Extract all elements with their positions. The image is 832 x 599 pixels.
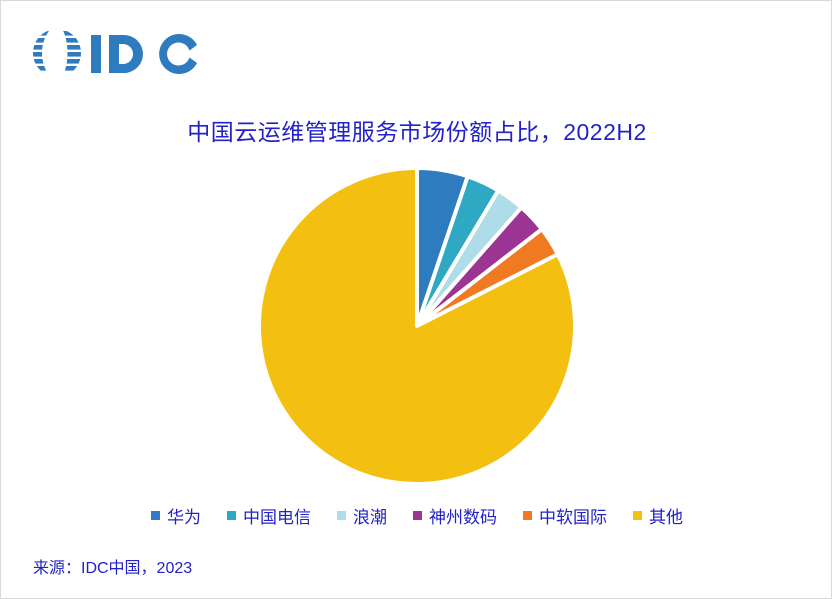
legend-item[interactable]: 其他 (633, 503, 683, 528)
pie-slice-group: 华为 5.2%中国电信 3.4%浪潮 2.9%神州数码 3%中软国际 3%其他 … (259, 168, 575, 484)
legend-item-label: 其他 (649, 503, 683, 528)
source-note: 来源：IDC中国，2023 (33, 554, 192, 578)
chart-title: 中国云运维管理服务市场份额占比，2022H2 (1, 113, 832, 147)
idc-logo-svg (31, 27, 201, 79)
legend-item-label: 中软国际 (539, 503, 607, 528)
chart-slide: 中国云运维管理服务市场份额占比，2022H2 华为 5.2%中国电信 3.4%浪… (0, 0, 832, 599)
legend-swatch-icon (413, 511, 422, 520)
legend-item[interactable]: 神州数码 (413, 503, 497, 528)
legend-item[interactable]: 中国电信 (227, 503, 311, 528)
chart-legend: 华为中国电信浪潮神州数码中软国际其他 (1, 503, 832, 528)
pie-chart-svg: 华为 5.2%中国电信 3.4%浪潮 2.9%神州数码 3%中软国际 3%其他 … (252, 161, 582, 491)
legend-swatch-icon (151, 511, 160, 520)
legend-swatch-icon (227, 511, 236, 520)
legend-swatch-icon (523, 511, 532, 520)
legend-item-label: 浪潮 (353, 503, 387, 528)
idc-wordmark (91, 34, 197, 74)
pie-chart: 华为 5.2%中国电信 3.4%浪潮 2.9%神州数码 3%中软国际 3%其他 … (1, 161, 832, 491)
legend-item[interactable]: 中软国际 (523, 503, 607, 528)
legend-item-label: 中国电信 (243, 503, 311, 528)
legend-swatch-icon (633, 511, 642, 520)
legend-item-label: 华为 (167, 503, 201, 528)
idc-logo (31, 27, 201, 79)
legend-item[interactable]: 华为 (151, 503, 201, 528)
legend-item[interactable]: 浪潮 (337, 503, 387, 528)
legend-item-label: 神州数码 (429, 503, 497, 528)
legend-swatch-icon (337, 511, 346, 520)
globe-stripes-icon (31, 27, 83, 79)
